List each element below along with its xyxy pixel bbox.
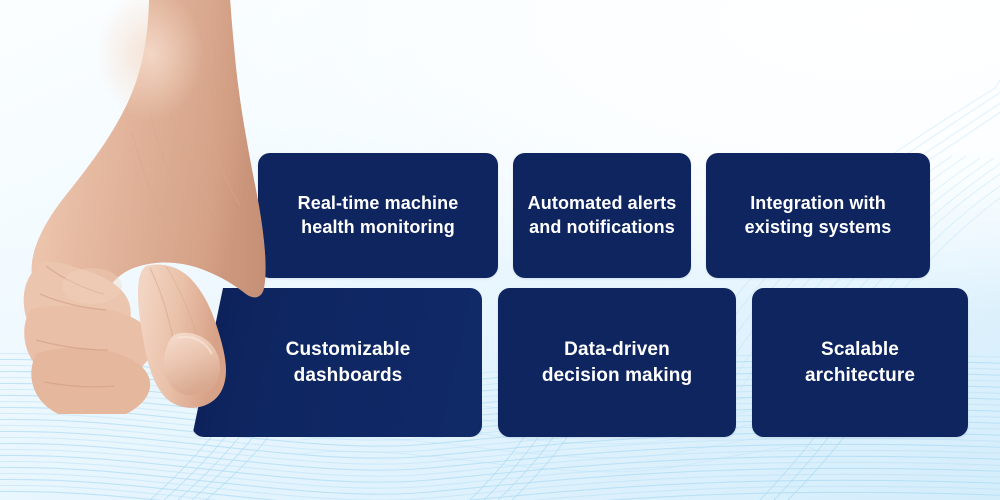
feature-card-integration-with-existing-systems[interactable]: Integration with existing systems	[706, 153, 930, 278]
feature-card-scalable-architecture[interactable]: Scalable architecture	[752, 288, 968, 437]
feature-grid-graphic: Real-time machine health monitoring Auto…	[0, 0, 1000, 500]
feature-card-line2: dashboards	[294, 365, 403, 386]
feature-card-line2: and notifications	[529, 217, 675, 237]
feature-card-line2: existing systems	[745, 217, 892, 237]
feature-card-line1: Automated alerts	[528, 193, 677, 213]
hand-illustration	[0, 0, 300, 414]
feature-card-data-driven-decision-making[interactable]: Data-driven decision making	[498, 288, 736, 437]
feature-card-line1: Data-driven	[564, 339, 670, 360]
feature-card-line2: architecture	[805, 365, 915, 386]
feature-card-label: Data-driven decision making	[530, 337, 704, 387]
feature-card-label: Automated alerts and notifications	[516, 192, 689, 240]
feature-card-line1: Real-time machine	[298, 193, 459, 213]
feature-card-automated-alerts-and-notifications[interactable]: Automated alerts and notifications	[513, 153, 691, 278]
feature-card-label: Integration with existing systems	[733, 192, 904, 240]
feature-card-line1: Scalable	[821, 339, 899, 360]
feature-card-line1: Integration with	[750, 193, 886, 213]
feature-card-line2: health monitoring	[301, 217, 455, 237]
feature-card-line1: Customizable	[286, 339, 411, 360]
feature-card-line2: decision making	[542, 365, 692, 386]
feature-card-label: Real-time machine health monitoring	[286, 192, 471, 240]
feature-card-label: Scalable architecture	[793, 337, 927, 387]
